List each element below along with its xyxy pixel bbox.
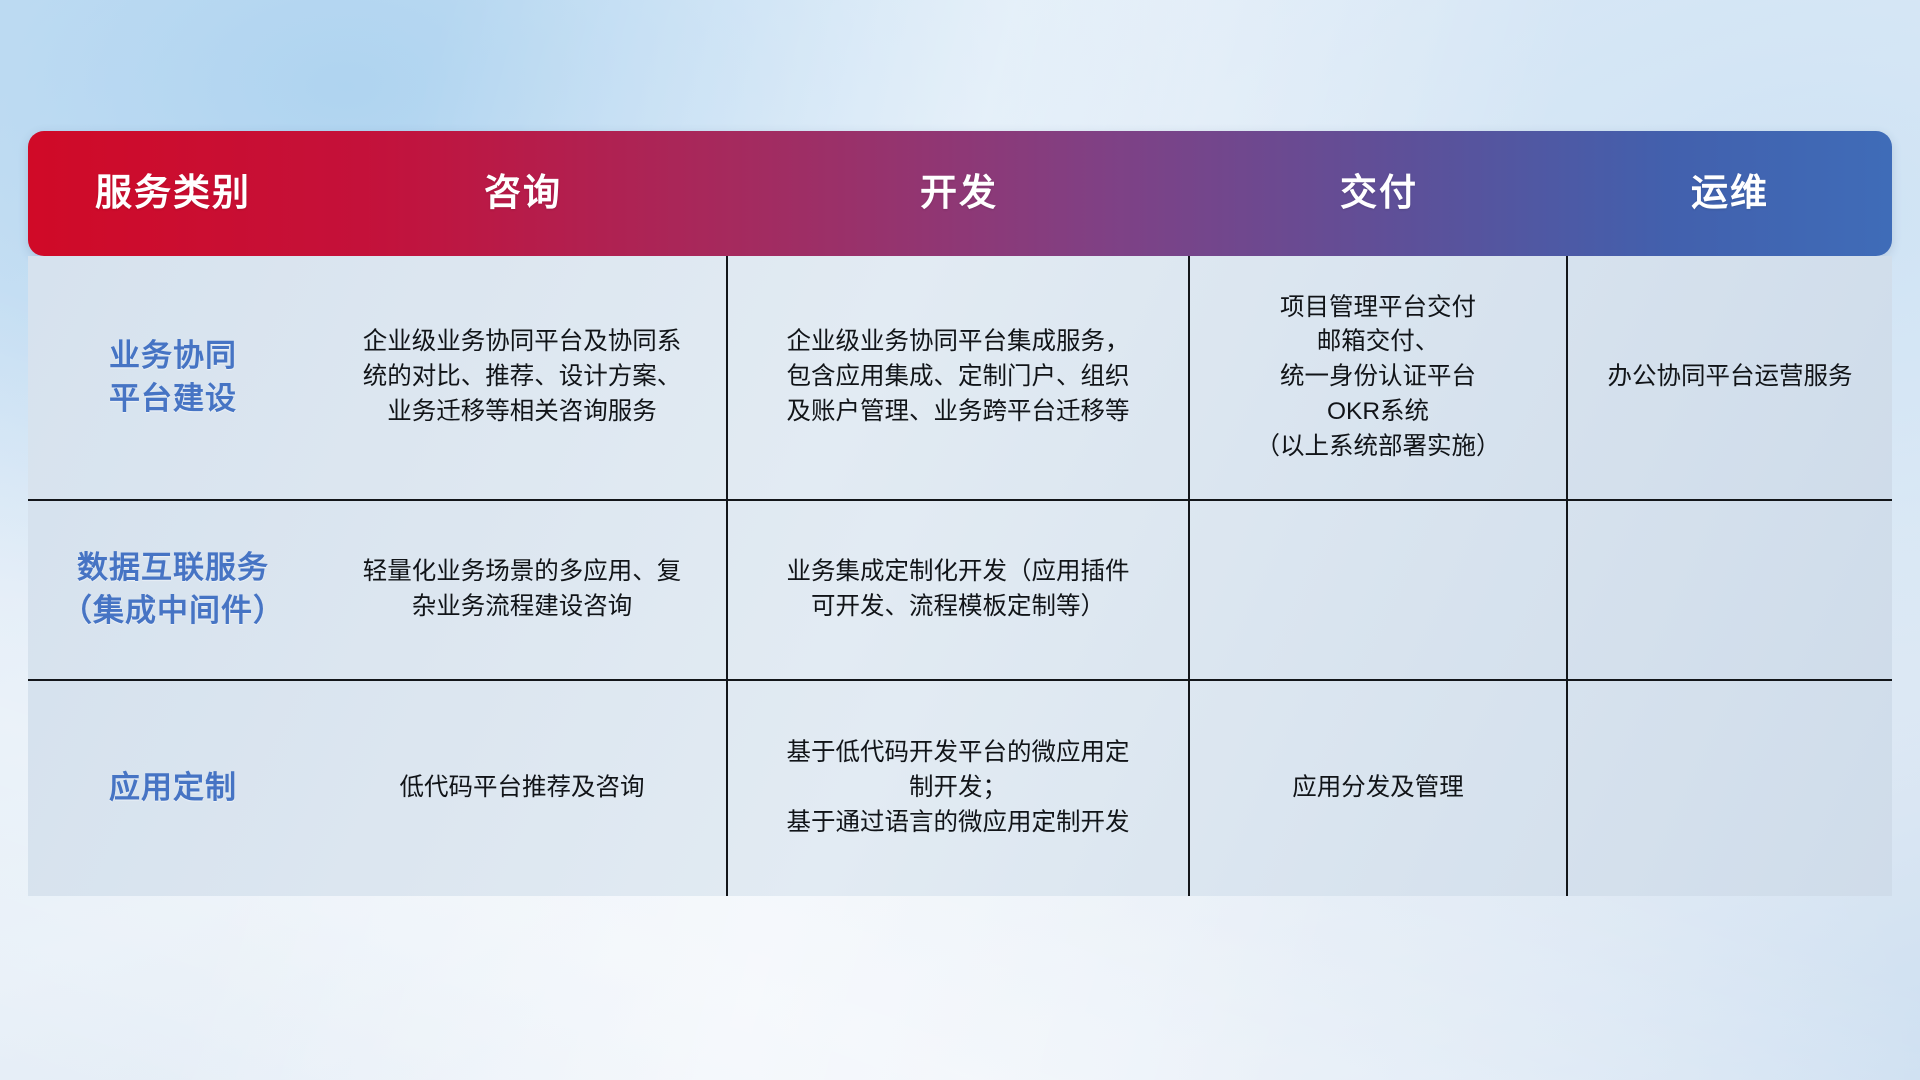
column-header-consulting[interactable]: 咨询: [318, 131, 728, 256]
cell-operations-row1: 办公协同平台运营服务: [1568, 256, 1892, 499]
column-header-operations[interactable]: 运维: [1568, 131, 1892, 256]
cell-consulting-row3: 低代码平台推荐及咨询: [318, 681, 728, 896]
cell-delivery-row3: 应用分发及管理: [1190, 681, 1568, 896]
cell-development-row2: 业务集成定制化开发（应用插件 可开发、流程模板定制等）: [728, 501, 1190, 679]
cell-consulting-row1: 企业级业务协同平台及协同系 统的对比、推荐、设计方案、 业务迁移等相关咨询服务: [318, 256, 728, 499]
cell-operations-row2: [1568, 501, 1892, 679]
column-header-delivery[interactable]: 交付: [1190, 131, 1568, 256]
table-body: 业务协同 平台建设 企业级业务协同平台及协同系 统的对比、推荐、设计方案、 业务…: [28, 256, 1892, 896]
cell-consulting-row2: 轻量化业务场景的多应用、复 杂业务流程建设咨询: [318, 501, 728, 679]
cell-delivery-row1: 项目管理平台交付 邮箱交付、 统一身份认证平台 OKR系统 （以上系统部署实施）: [1190, 256, 1568, 499]
cell-operations-row3: [1568, 681, 1892, 896]
table-row: 数据互联服务 （集成中间件） 轻量化业务场景的多应用、复 杂业务流程建设咨询 业…: [28, 501, 1892, 681]
row-label-data-interconnect: 数据互联服务 （集成中间件）: [28, 501, 318, 679]
table-header-row: 服务类别 咨询 开发 交付 运维: [28, 131, 1892, 256]
table-row: 应用定制 低代码平台推荐及咨询 基于低代码开发平台的微应用定 制开发； 基于通过…: [28, 681, 1892, 896]
slide-canvas: 服务类别 咨询 开发 交付 运维 业务协同 平台建设 企业级业务协同平台及协同系…: [0, 0, 1920, 1080]
table-row: 业务协同 平台建设 企业级业务协同平台及协同系 统的对比、推荐、设计方案、 业务…: [28, 256, 1892, 501]
column-header-development[interactable]: 开发: [728, 131, 1190, 256]
service-matrix-table: 服务类别 咨询 开发 交付 运维 业务协同 平台建设 企业级业务协同平台及协同系…: [28, 131, 1892, 971]
cell-development-row1: 企业级业务协同平台集成服务， 包含应用集成、定制门户、组织 及账户管理、业务跨平…: [728, 256, 1190, 499]
cell-delivery-row2: [1190, 501, 1568, 679]
cell-development-row3: 基于低代码开发平台的微应用定 制开发； 基于通过语言的微应用定制开发: [728, 681, 1190, 896]
row-label-application-customization: 应用定制: [28, 681, 318, 896]
column-header-category[interactable]: 服务类别: [28, 131, 318, 256]
row-label-business-collaboration: 业务协同 平台建设: [28, 256, 318, 499]
